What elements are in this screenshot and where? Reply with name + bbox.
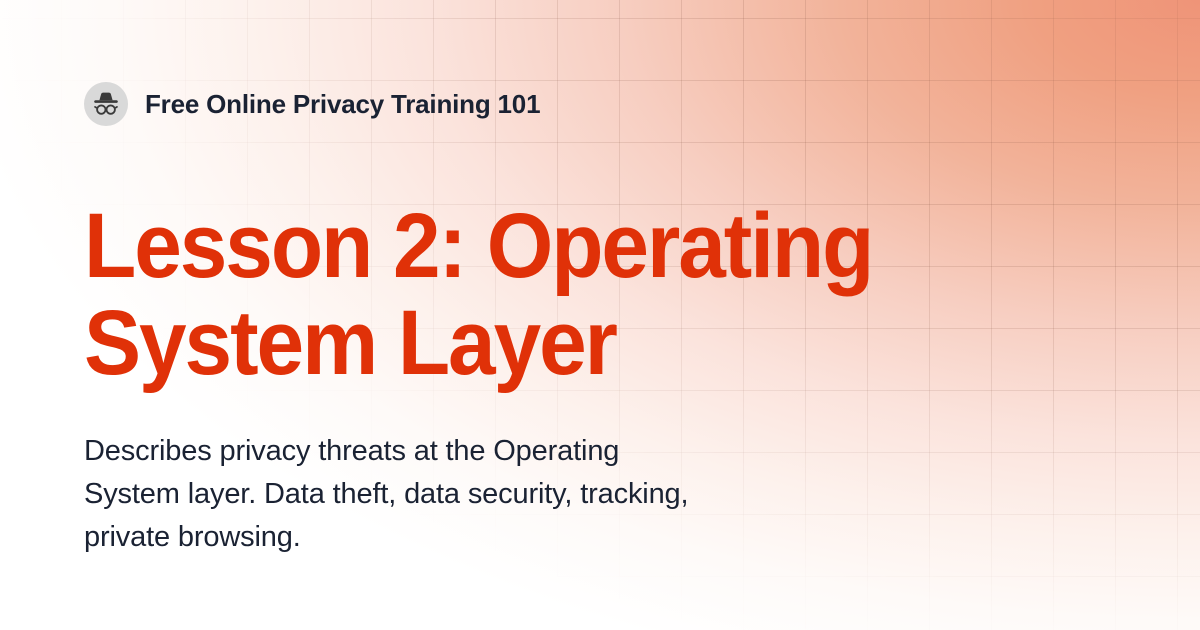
brand-header: Free Online Privacy Training 101: [84, 80, 540, 128]
og-card: Free Online Privacy Training 101 Lesson …: [0, 0, 1200, 630]
brand-title: Free Online Privacy Training 101: [145, 91, 540, 117]
page-description: Describes privacy threats at the Operati…: [84, 430, 884, 559]
page-title: Lesson 2: Operating System Layer: [84, 198, 921, 392]
incognito-icon: [84, 82, 128, 126]
card-content: Free Online Privacy Training 101 Lesson …: [0, 0, 1200, 630]
